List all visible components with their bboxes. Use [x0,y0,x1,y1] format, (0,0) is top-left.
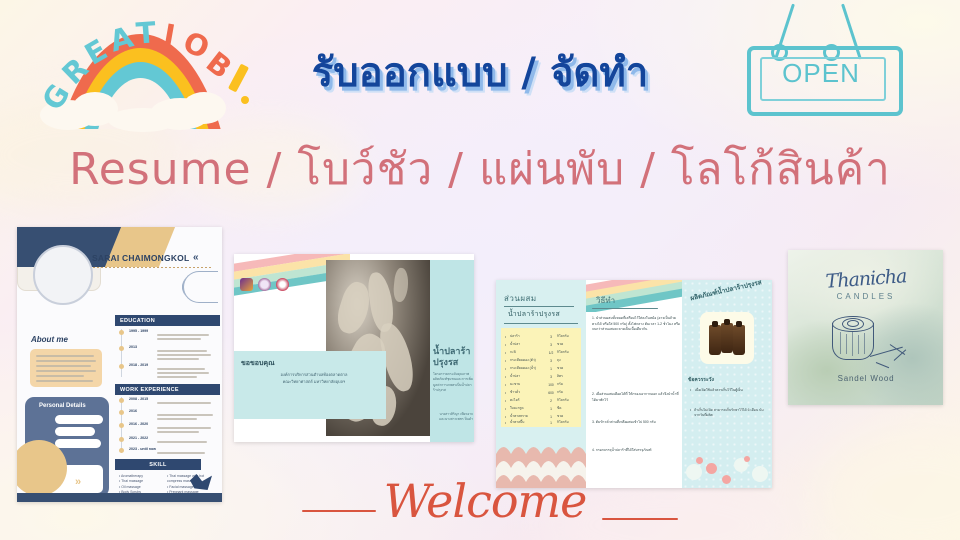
logo-variant-label: Sandel Wood [802,374,930,383]
resume-sidebar-heading: Personal Details [39,403,86,409]
sample-presentation-slide[interactable]: ขอขอบคุณ องค์การบริหารส่วนตำบลท้องตลาดตา… [234,254,474,442]
partner-logo [258,278,271,291]
resume-footer-band [17,493,222,502]
ingredient-row: •กะปิ1/2กิโลกรัม [505,350,577,355]
brochure-panel-method: วิธีทำ 1. นำส่วนผสมทั้งหมดที่เตรียมไว้ใส… [586,280,682,488]
sample-brochure[interactable]: ส่วนผสม น้ำปลาร้าปรุงรส •ปลาร้า3กิโลกรัม… [496,280,772,488]
resume-divider [93,267,213,268]
poster-canvas: G R E A T J O B OPEN รับออกแบบ / จัดทำ R… [0,0,960,540]
ingredient-row: •มะขาม100กรัม [505,382,577,387]
chevron-left-icon: « [193,252,199,263]
gj-letter: J [161,17,178,52]
twig-icon [870,338,916,372]
open-sign-label: OPEN [747,58,895,89]
chevron-right-icon: » [75,476,81,488]
gj-letter: A [106,20,137,59]
ingredient-row: •น้ำปลา3ลิตร [505,374,577,379]
welcome-lettering: Welcome [320,474,650,536]
logo-brand-script: Thanicha [801,264,930,295]
caution-item: •ถ้าเก็บไม่เปิด สามารถเก็บรักษาไว้ได้ 6 … [690,408,766,419]
brochure-method-heading: วิธีทำ [596,294,615,307]
slide-credit: นางสาวสิริญา เพียรอาจ และนางสาวเพชร ปิ่น… [433,412,473,423]
resume-about-heading: About me [31,335,68,344]
gj-letter: G [35,78,76,116]
welcome-swash-right [602,518,678,520]
brochure-ingredients-heading: ส่วนผสม [504,292,537,305]
resume-section-heading: SKILL [115,459,201,470]
page-title: รับออกแบบ / จัดทำ [250,40,710,104]
resume-fan-decoration [183,271,218,303]
brochure-product-name: น้ำปลาร้าปรุงรส [508,309,560,320]
confetti-decoration [682,448,772,488]
resume-about-body [30,349,102,387]
ingredient-row: •กระเทียมดอง (ตัว)3ถุง [505,358,577,363]
open-sign-icon: OPEN [737,2,907,114]
method-step: 3. ต้มข้าวคั่วส่วนที่เหลือผสมเข้าไป 500 … [592,420,680,426]
ingredient-row: •ข้าวคั่ว600กรัม [505,390,577,395]
sample-resume[interactable]: SARAI CHAIMONGKOL « About me Personal De… [17,227,222,502]
org-logo [276,278,289,291]
ingredient-row: •น้ำตาลปี๊บ1กิโลกรัม [505,420,577,425]
ingredient-row: •ใบมะกรูด1ขีด [505,406,577,411]
brochure-panel-product: ผลิตภัณฑ์น้ำปลาร้าปรุงรส ข้อควรระวัง •เม… [682,280,772,488]
exclamation-dot-icon [241,96,249,104]
welcome-text: Welcome [320,474,650,528]
slide-thanks-body: องค์การบริหารส่วนตำบลท้องตลาดตาล คณะวิทย… [256,372,372,386]
decor-blob [820,430,960,540]
great-job-lettering: G R E A T J O B [10,4,270,124]
page-subtitle: Resume / โบว์ชัว / แผ่นพับ / โลโก้สินค้า [0,136,960,202]
university-logo [240,278,253,291]
brochure-ingredients-box: •ปลาร้า3กิโลกรัม •น้ำปลา3ขวด •กะปิ1/2กิโ… [501,328,581,427]
great-job-badge: G R E A T J O B [10,4,270,124]
method-step: 2. เมื่อส่วนผสมเดือดได้ที่ ให้กรองเอากาก… [592,392,680,403]
ingredient-row: •น้ำตาลทราย1ขวด [505,414,577,419]
method-step: 4. กรอกบรรจุน้ำปลาร้าที่ได้ใส่บรรจุภัณฑ์ [592,448,680,454]
slide-logo-row [240,278,289,291]
ingredient-row: •ปลาร้า3กิโลกรัม [505,334,577,339]
slide-title: น้ำปลาร้า ปรุงรส [433,346,474,369]
caution-item: •เมื่อเปิดใช้แล้วควรเก็บไว้ในตู้เย็น [690,388,766,393]
wood-stump-icon [832,316,872,360]
resume-section-heading: WORK EXPERIENCE [115,384,220,395]
slide-accent-panel [430,260,474,342]
gj-letter: T [135,15,157,50]
ingredient-row: •ตะไคร้2กิโลกรัม [505,398,577,403]
sample-candle-logo[interactable]: Thanicha CANDLES Sandel Wood [788,250,943,405]
ingredient-row: •น้ำปลา3ขวด [505,342,577,347]
brochure-panel-ingredients: ส่วนผสม น้ำปลาร้าปรุงรส •ปลาร้า3กิโลกรัม… [496,280,586,488]
method-step: 1. นำส่วนผสมทั้งหมดที่เตรียมไว้ใส่ลงในหม… [592,316,680,333]
avatar [33,245,93,305]
ingredient-row: •กระเทียมดอง (น้ำ)1ขวด [505,366,577,371]
brochure-caution-heading: ข้อควรระวัง [688,376,714,384]
product-bottles-photo [704,316,750,360]
logo-brand-sub: CANDLES [802,292,930,301]
resume-section-heading: EDUCATION [115,315,220,326]
slide-body: โครงการยกระดับคุณภาพผลิตภัณฑ์ชุมชนและการ… [433,372,473,393]
slide-thanks-heading: ขอขอบคุณ [241,358,275,369]
